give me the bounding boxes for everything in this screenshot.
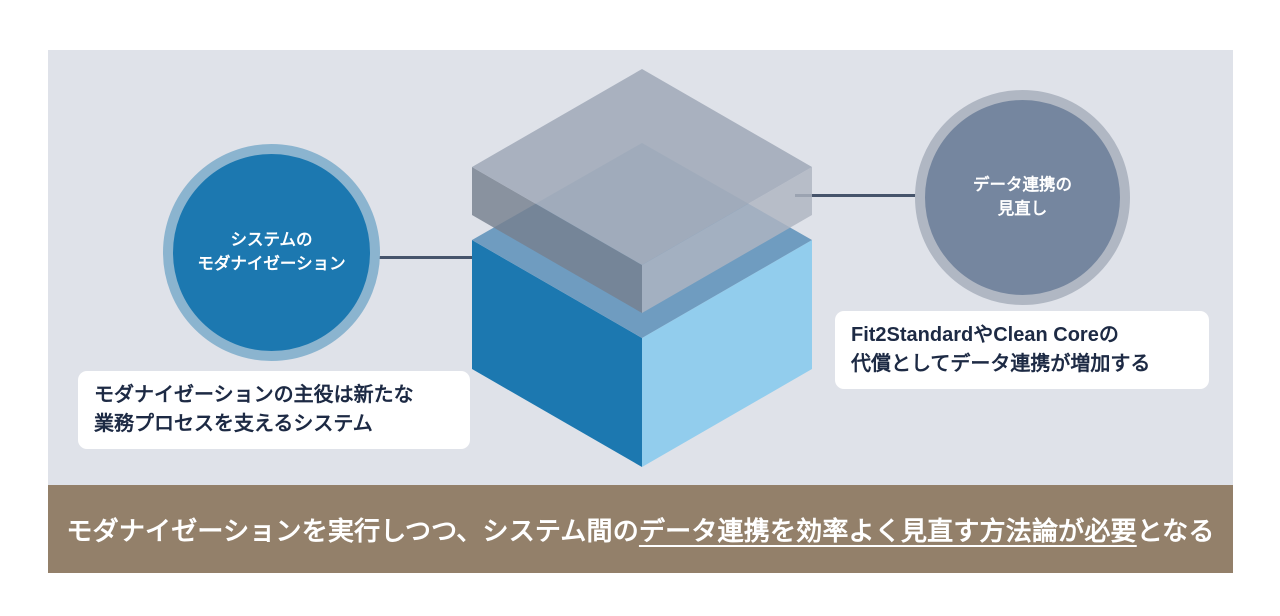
banner-emphasis-text: データ連携を効率よく見直す方法論が必要 [639,511,1137,548]
banner-tail-text: となる [1137,511,1215,548]
callout-left: モダナイゼーションの主役は新たな 業務プロセスを支えるシステム [78,371,470,449]
conclusion-banner: モダナイゼーションを実行しつつ、システム間のデータ連携を効率よく見直す方法論が必… [48,485,1233,573]
node-data-integration-review-label: データ連携の 見直し [973,174,1072,222]
callout-right-text: Fit2StandardやClean Coreの 代償としてデータ連携が増加する [851,321,1150,379]
isometric-cube-diagram [455,55,830,475]
node-system-modernization-label: システムの モダナイゼーション [197,229,345,277]
slide-canvas: システムの モダナイゼーション データ連携の 見直し モダナイゼーションの主役は… [0,0,1280,616]
callout-right: Fit2StandardやClean Coreの 代償としてデータ連携が増加する [835,311,1209,389]
node-system-modernization[interactable]: システムの モダナイゼーション [163,144,380,361]
banner-lead-text: モダナイゼーションを実行しつつ、システム間の [66,511,639,548]
callout-left-text: モダナイゼーションの主役は新たな 業務プロセスを支えるシステム [94,381,414,439]
node-data-integration-review[interactable]: データ連携の 見直し [915,90,1130,305]
